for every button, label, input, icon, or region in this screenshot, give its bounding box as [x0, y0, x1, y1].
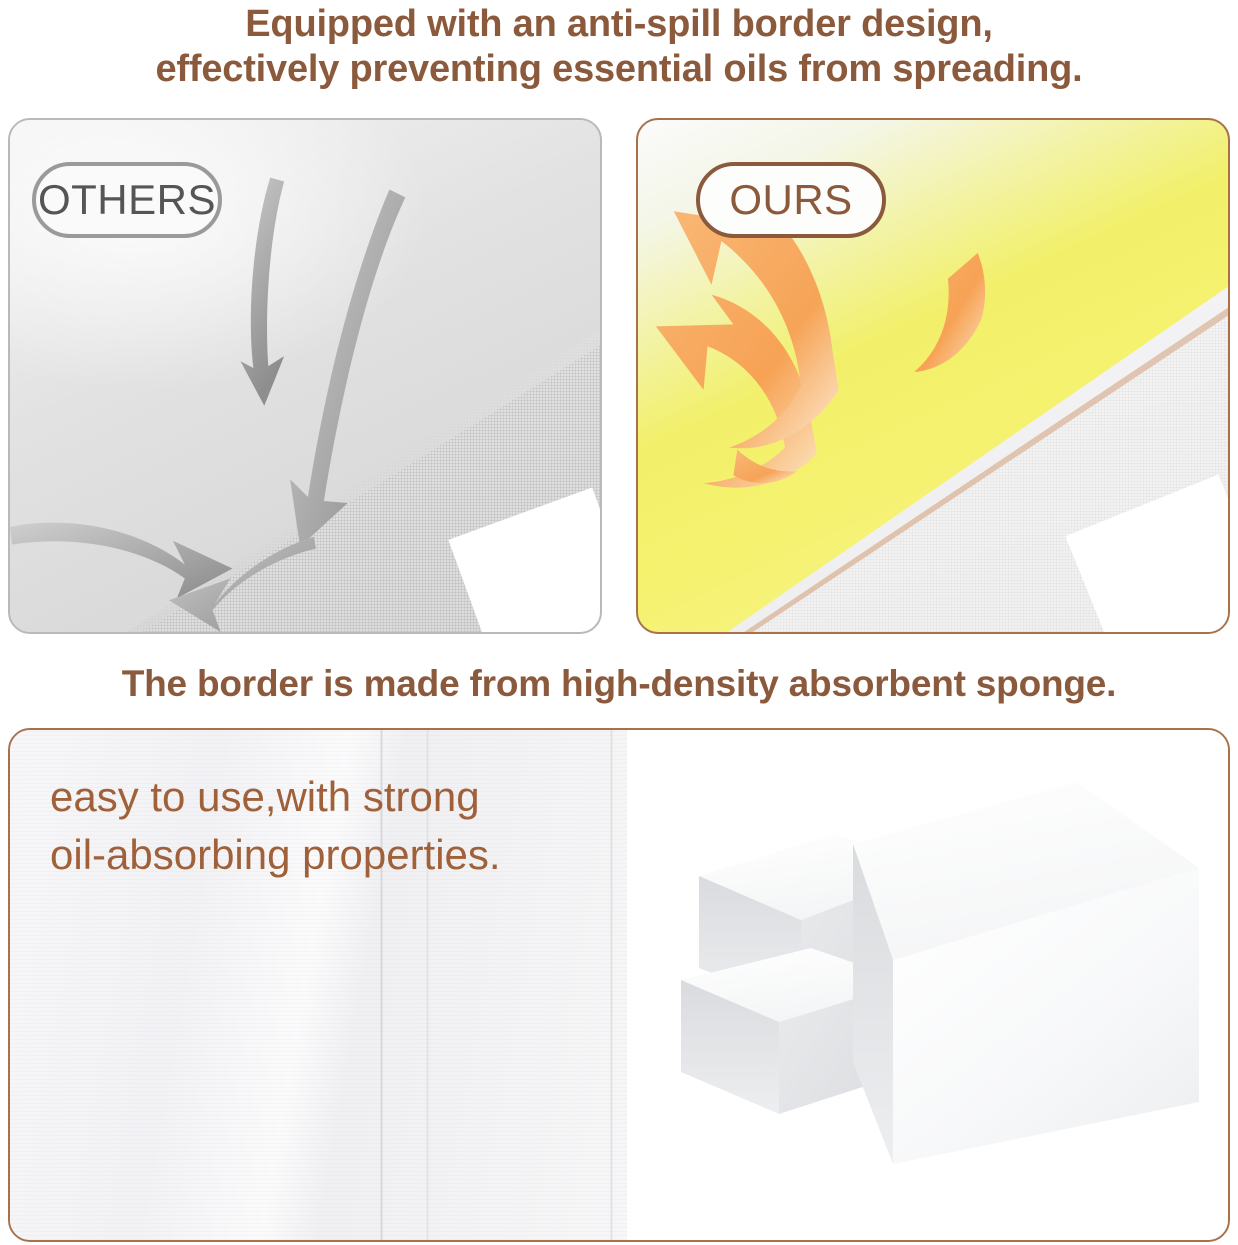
bottom-caption-line-1: easy to use,with strong [50, 768, 501, 826]
mid-caption: The border is made from high-density abs… [0, 657, 1238, 711]
badge-others-label: OTHERS [38, 176, 216, 224]
badge-ours-label: OURS [729, 176, 852, 224]
spill-arrow-2 [290, 189, 405, 546]
headline-line-1: Equipped with an anti-spill border desig… [0, 2, 1238, 47]
sponge-blocks-illustration [647, 772, 1217, 1202]
blocked-arrow-right [914, 253, 985, 372]
spill-arrow-1 [240, 178, 284, 406]
headline-line-2: effectively preventing essential oils fr… [0, 47, 1238, 92]
spill-arrow-3 [10, 523, 232, 599]
mat-seam-3 [610, 730, 613, 1240]
others-comparison-panel: OTHERS [8, 118, 602, 634]
sponge-block-front [853, 782, 1199, 1164]
bottom-caption-line-2: oil-absorbing properties. [50, 826, 501, 884]
ours-comparison-panel: OURS [636, 118, 1230, 634]
bottom-feature-panel: easy to use,with strong oil-absorbing pr… [8, 728, 1230, 1242]
bottom-caption: easy to use,with strong oil-absorbing pr… [50, 768, 501, 884]
sponge-product-photo [627, 730, 1228, 1240]
badge-others: OTHERS [32, 162, 222, 238]
badge-ours: OURS [696, 162, 886, 238]
headline: Equipped with an anti-spill border desig… [0, 2, 1238, 92]
